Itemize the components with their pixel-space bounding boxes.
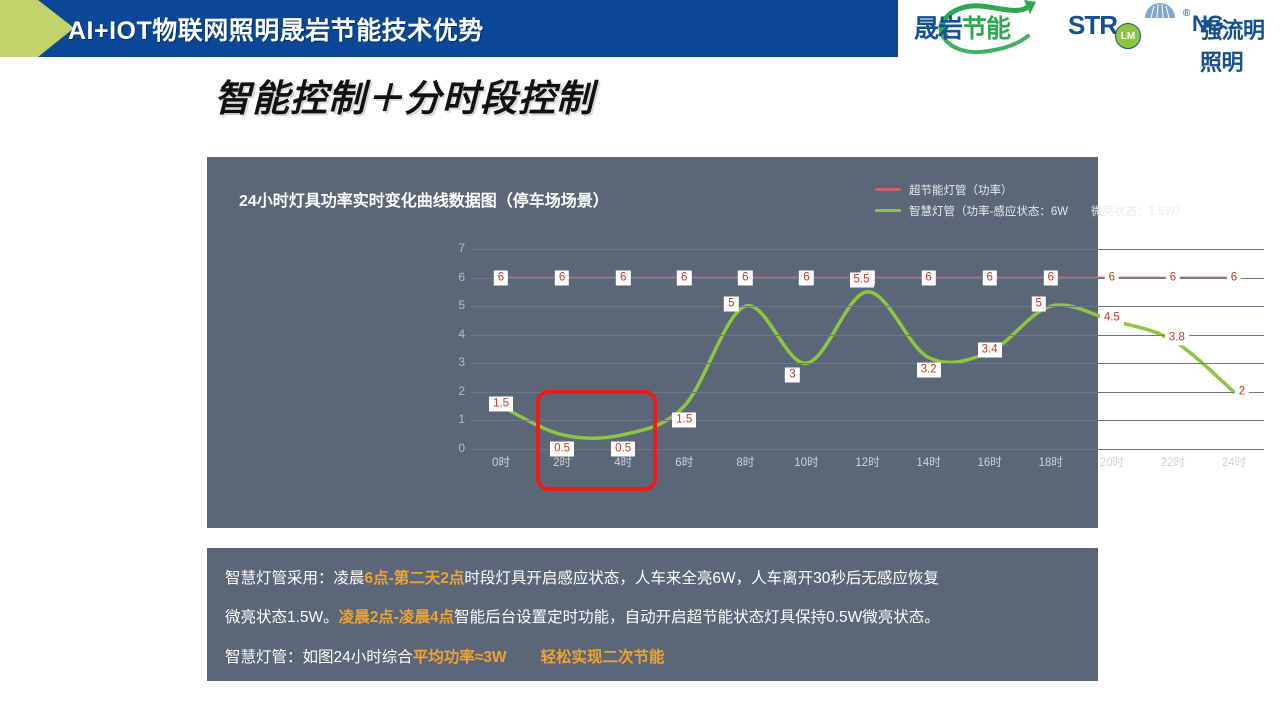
data-label: 1.5	[489, 397, 513, 412]
y-axis-tick: 0	[449, 441, 465, 455]
note-highlight: 轻松实现二次节能	[541, 649, 665, 666]
data-label: 3.4	[978, 342, 1002, 357]
data-label: 1.5	[672, 413, 696, 428]
data-label: 2	[1235, 384, 1249, 399]
chart-legend: 超节能灯管（功率）智慧灯管（功率-感应状态：6W 微亮状态：1.5W）	[875, 179, 1187, 221]
legend-swatch	[875, 188, 901, 191]
x-axis-tick: 10时	[794, 454, 818, 470]
note-highlight: 凌晨2点-凌晨4点	[339, 609, 454, 626]
x-axis-tick: 12时	[855, 454, 879, 470]
note-highlight: 平均功率≈3W	[413, 649, 507, 666]
logo-suffix-cn: 强流明照明	[1200, 13, 1280, 77]
data-label: 6	[555, 270, 569, 285]
data-label: 5	[1032, 297, 1046, 312]
x-axis-tick: 6时	[675, 454, 693, 470]
logo-brand-en: STR	[1068, 10, 1117, 41]
note-line-3: 智慧灯管：如图24小时综合平均功率≈3W轻松实现二次节能	[225, 645, 665, 667]
y-axis-tick: 5	[449, 298, 465, 312]
note-line-1: 智慧灯管采用：凌晨6点-第二天2点时段灯具开启感应状态，人车来全亮6W，人车离开…	[225, 566, 939, 588]
gridline	[471, 335, 1264, 336]
chart-plot-area: 012345670时2时4时6时8时10时12时14时16时18时20时22时2…	[471, 249, 1264, 599]
data-label: 3.8	[1165, 331, 1189, 346]
note-text: 微亮状态1.5W。	[225, 609, 339, 626]
y-axis-tick: 4	[449, 327, 465, 341]
gridline	[471, 363, 1264, 364]
y-axis-tick: 3	[449, 355, 465, 369]
legend-swatch	[875, 209, 901, 212]
data-label: 6	[921, 270, 935, 285]
data-label: 6	[616, 270, 630, 285]
x-axis-tick: 22时	[1161, 454, 1185, 470]
data-label: 3	[785, 368, 799, 383]
x-axis-tick: 20时	[1100, 454, 1124, 470]
note-text: 智慧灯管采用：凌晨	[225, 570, 365, 587]
x-axis-tick: 16时	[978, 454, 1002, 470]
logo-fan-icon	[1143, 2, 1177, 18]
data-label: 4.5	[1100, 311, 1124, 326]
company-logo: 晟岩节能 STR LM NG ® 强流明照明	[900, 0, 1280, 57]
note-highlight: 6点-第二天2点	[365, 570, 465, 587]
data-label: 6	[982, 270, 996, 285]
highlight-rectangle	[536, 390, 657, 491]
legend-item: 智慧灯管（功率-感应状态：6W 微亮状态：1.5W）	[875, 200, 1187, 221]
chart-panel: 24小时灯具功率实时变化曲线数据图（停车场场景） 超节能灯管（功率）智慧灯管（功…	[207, 157, 1098, 528]
note-text: 智能后台设置定时功能，自动开启超节能状态灯具保持0.5W微亮状态。	[454, 609, 940, 626]
y-axis-tick: 2	[449, 384, 465, 398]
data-label: 6	[1044, 270, 1058, 285]
slide-header: AI+IOT物联网照明晟岩节能技术优势 晟岩节能 STR LM NG ® 强流明…	[0, 0, 1280, 58]
x-axis-tick: 8时	[736, 454, 754, 470]
chart-title: 24小时灯具功率实时变化曲线数据图（停车场场景）	[239, 187, 609, 211]
gridline	[471, 306, 1264, 307]
x-axis-tick: 0时	[492, 454, 510, 470]
notes-panel: 智慧灯管采用：凌晨6点-第二天2点时段灯具开启感应状态，人车来全亮6W，人车离开…	[207, 548, 1098, 681]
data-label: 6	[738, 270, 752, 285]
data-label: 6	[677, 270, 691, 285]
data-label: 3.2	[917, 362, 941, 377]
legend-label: 智慧灯管（功率-感应状态：6W 微亮状态：1.5W）	[909, 203, 1187, 219]
note-text: 时段灯具开启感应状态，人车来全亮6W，人车离开30秒后无感应恢复	[464, 570, 939, 587]
y-axis-tick: 7	[449, 241, 465, 255]
data-label: 5	[724, 297, 738, 312]
x-axis-tick: 18时	[1039, 454, 1063, 470]
data-label: 5.5	[850, 272, 874, 287]
y-axis-tick: 6	[449, 270, 465, 284]
logo-registered-mark: ®	[1183, 8, 1190, 19]
slide-subtitle: 智能控制＋分时段控制	[214, 68, 594, 122]
legend-item: 超节能灯管（功率）	[875, 179, 1187, 200]
header-title: AI+IOT物联网照明晟岩节能技术优势	[68, 0, 484, 57]
x-axis-tick: 14时	[916, 454, 940, 470]
y-axis-tick: 1	[449, 412, 465, 426]
x-axis-tick: 24时	[1222, 454, 1246, 470]
note-text: 智慧灯管：如图24小时综合	[225, 649, 413, 666]
data-label: 6	[1166, 270, 1180, 285]
gridline	[471, 249, 1264, 250]
logo-lm-badge: LM	[1115, 23, 1141, 49]
logo-brand-cn: 晟岩节能	[914, 9, 1010, 45]
data-label: 6	[1105, 270, 1119, 285]
data-label: 6	[1227, 270, 1241, 285]
data-label: 6	[494, 270, 508, 285]
data-label: 6	[799, 270, 813, 285]
note-line-2: 微亮状态1.5W。凌晨2点-凌晨4点智能后台设置定时功能，自动开启超节能状态灯具…	[225, 605, 940, 627]
legend-label: 超节能灯管（功率）	[909, 182, 1013, 198]
